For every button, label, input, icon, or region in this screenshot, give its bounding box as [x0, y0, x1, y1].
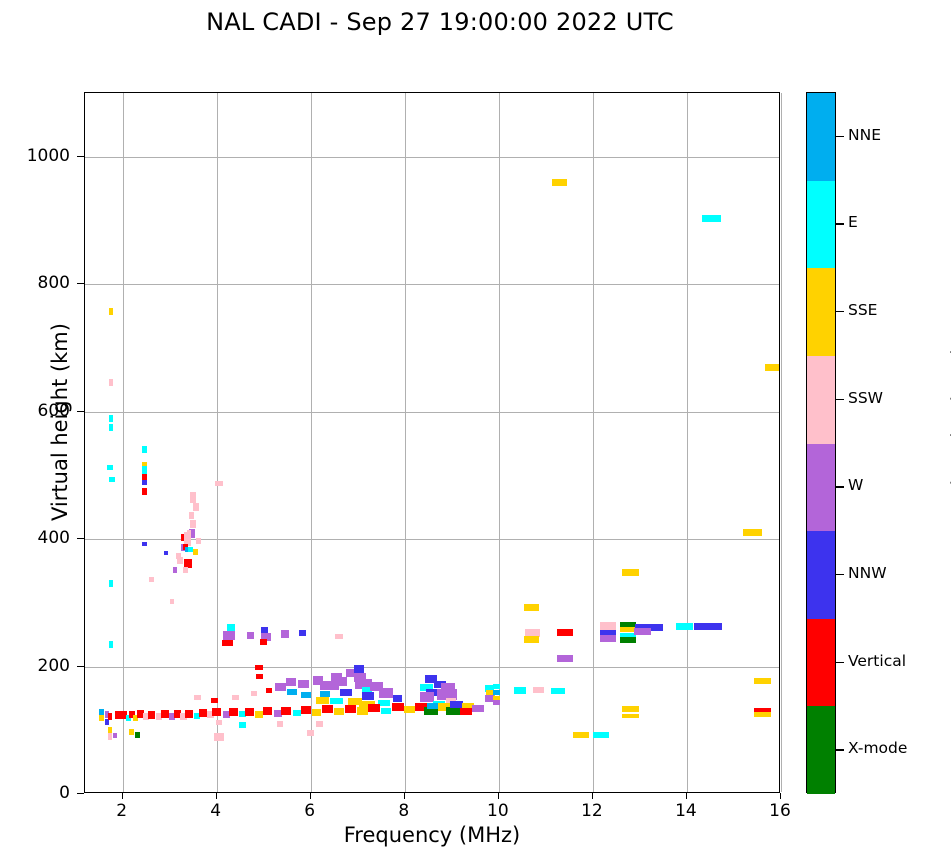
- x-axis-tick: [780, 793, 781, 799]
- echo-point: [109, 580, 113, 587]
- y-axis-tick-label: 200: [10, 656, 70, 676]
- echo-point: [301, 692, 310, 698]
- y-axis-tick: [77, 283, 84, 284]
- echo-point: [216, 720, 222, 725]
- echo-point: [177, 557, 184, 564]
- echo-point: [251, 691, 257, 696]
- echo-point: [557, 655, 573, 662]
- colorbar-segment-vertical: [807, 619, 835, 707]
- echo-point: [524, 604, 539, 611]
- x-axis-title: Frequency (MHz): [84, 823, 780, 847]
- gridline-vertical: [781, 93, 782, 792]
- echo-point: [193, 503, 198, 511]
- echo-point: [330, 698, 342, 704]
- echo-point: [312, 709, 321, 716]
- echo-point: [113, 733, 117, 738]
- echo-point: [173, 567, 177, 573]
- echo-point: [183, 567, 188, 573]
- echo-point: [460, 708, 472, 715]
- colorbar-segment-nne: [807, 93, 835, 181]
- echo-point: [109, 308, 113, 315]
- echo-point: [622, 569, 639, 576]
- echo-point: [109, 379, 113, 386]
- echo-point: [493, 700, 500, 705]
- echo-point: [107, 465, 113, 470]
- echo-point: [316, 697, 328, 704]
- y-axis-tick: [77, 793, 84, 794]
- echo-point: [357, 707, 368, 715]
- echo-point: [193, 549, 198, 555]
- x-axis-tick-label: 8: [374, 801, 434, 821]
- colorbar-segment-nnw: [807, 531, 835, 619]
- colorbar-tick: [836, 311, 844, 312]
- echo-point: [222, 640, 232, 646]
- echo-point: [189, 512, 194, 519]
- echo-point: [694, 623, 721, 630]
- y-axis-title: Virtual height (km): [48, 222, 72, 622]
- echo-point: [260, 639, 267, 645]
- echo-point: [533, 687, 544, 693]
- echo-point: [754, 678, 771, 684]
- y-axis-tick: [77, 156, 84, 157]
- colorbar-segment-ssw: [807, 356, 835, 444]
- x-axis-tick: [498, 793, 499, 799]
- colorbar-label-sse: SSE: [848, 301, 877, 319]
- echo-point: [256, 674, 263, 679]
- y-axis-tick: [77, 411, 84, 412]
- colorbar-label-ssw: SSW: [848, 389, 883, 407]
- echo-point: [676, 623, 693, 630]
- echo-point: [404, 706, 415, 713]
- echo-point: [142, 542, 147, 546]
- echo-point: [108, 713, 112, 720]
- echo-point: [214, 733, 223, 741]
- x-axis-tick-label: 4: [186, 801, 246, 821]
- colorbar-segment-sse: [807, 268, 835, 356]
- echo-point: [170, 599, 174, 604]
- echo-point: [281, 630, 289, 638]
- echo-point: [109, 424, 113, 431]
- echo-point: [600, 635, 616, 642]
- echo-point: [232, 695, 239, 700]
- echo-point: [185, 710, 193, 718]
- echo-point: [381, 708, 391, 714]
- echo-point: [266, 688, 272, 693]
- echo-point: [335, 634, 343, 639]
- echo-point: [109, 477, 115, 482]
- colorbar-label-w: W: [848, 476, 863, 494]
- echo-point: [622, 714, 639, 718]
- plot-area: [84, 92, 780, 793]
- echo-point: [142, 488, 147, 495]
- y-axis-tick: [77, 538, 84, 539]
- echo-point: [593, 732, 609, 738]
- x-axis-tick-label: 10: [468, 801, 528, 821]
- echo-point: [379, 688, 393, 698]
- echo-point: [765, 364, 779, 371]
- echo-point: [552, 179, 567, 186]
- echo-point: [164, 551, 169, 555]
- page-title: NAL CADI - Sep 27 19:00:00 2022 UTC: [0, 8, 880, 36]
- colorbar-label-vertical: Vertical: [848, 652, 906, 670]
- colorbar-tick: [836, 399, 844, 400]
- echo-point: [493, 690, 500, 695]
- x-axis-tick: [310, 793, 311, 799]
- echo-point: [313, 676, 323, 685]
- echo-point: [322, 705, 333, 713]
- echo-point: [142, 466, 147, 474]
- echo-point: [393, 695, 401, 702]
- echo-point: [392, 703, 404, 711]
- echo-point: [557, 629, 573, 636]
- echo-point: [441, 683, 455, 691]
- echo-point: [524, 636, 539, 643]
- echo-point: [105, 719, 109, 725]
- x-axis-tick-label: 2: [92, 801, 152, 821]
- colorbar-label-nnw: NNW: [848, 564, 887, 582]
- echo-point: [215, 481, 223, 486]
- colorbar-segment-x-mode: [807, 706, 835, 794]
- echo-point: [247, 632, 254, 639]
- echo-point: [362, 692, 374, 700]
- y-axis-tick-label: 0: [10, 783, 70, 803]
- echo-point: [287, 689, 296, 695]
- echo-point: [199, 709, 207, 717]
- echo-point: [293, 710, 301, 716]
- echo-point: [551, 688, 565, 694]
- x-axis-tick-label: 12: [562, 801, 622, 821]
- x-axis-tick: [592, 793, 593, 799]
- echo-point: [190, 520, 196, 528]
- echo-point: [450, 701, 462, 708]
- echo-point: [149, 577, 154, 582]
- echo-point: [194, 695, 201, 700]
- echo-point: [255, 665, 262, 670]
- echo-point: [286, 678, 296, 686]
- echo-point: [307, 730, 314, 736]
- echo-point: [298, 680, 309, 688]
- echo-point: [622, 706, 639, 712]
- echo-point: [345, 705, 356, 713]
- y-axis-tick-label: 1000: [10, 146, 70, 166]
- colorbar-tick: [836, 749, 844, 750]
- colorbar-tick: [836, 574, 844, 575]
- echo-point: [620, 637, 636, 643]
- echo-point: [334, 708, 344, 715]
- echo-point: [573, 732, 589, 738]
- echo-point: [743, 529, 762, 536]
- x-axis-tick-label: 16: [750, 801, 810, 821]
- echo-point: [135, 732, 140, 738]
- echo-point: [142, 446, 147, 453]
- echo-point: [211, 698, 218, 703]
- echo-point: [301, 706, 311, 714]
- echo-point: [275, 683, 286, 691]
- echo-point: [472, 705, 484, 712]
- echo-point: [514, 687, 525, 694]
- echo-point: [227, 624, 235, 631]
- echo-point: [142, 480, 147, 485]
- colorbar-tick: [836, 136, 844, 137]
- echo-point: [109, 415, 113, 422]
- x-axis-tick: [122, 793, 123, 799]
- x-axis-tick: [404, 793, 405, 799]
- y-axis-tick: [77, 666, 84, 667]
- echo-point: [634, 628, 651, 635]
- x-axis-tick-label: 14: [656, 801, 716, 821]
- echo-point: [212, 708, 221, 716]
- echo-point: [239, 722, 245, 728]
- colorbar-tick: [836, 662, 844, 663]
- echo-point: [148, 711, 155, 719]
- echo-point: [99, 715, 103, 721]
- echo-point: [190, 492, 196, 503]
- echo-point: [229, 708, 238, 716]
- scatter-data-layer: [85, 93, 779, 792]
- echo-point: [299, 630, 307, 636]
- echo-point: [320, 691, 330, 697]
- echo-point: [263, 707, 273, 715]
- echo-point: [368, 704, 380, 712]
- echo-point: [754, 712, 771, 717]
- colorbar-segment-w: [807, 444, 835, 532]
- colorbar-label-e: E: [848, 213, 858, 231]
- echo-point: [196, 538, 201, 544]
- x-axis-tick: [216, 793, 217, 799]
- echo-point: [245, 708, 254, 716]
- echo-point: [340, 689, 352, 696]
- x-axis-tick-label: 6: [280, 801, 340, 821]
- echo-point: [702, 215, 721, 222]
- colorbar-tick: [836, 223, 844, 224]
- colorbar-label-nne: NNE: [848, 126, 881, 144]
- colorbar-label-x-mode: X-mode: [848, 739, 907, 757]
- echo-point: [277, 721, 283, 727]
- colorbar-segment-e: [807, 181, 835, 269]
- colorbar-tick: [836, 486, 844, 487]
- x-axis-tick: [686, 793, 687, 799]
- echo-point: [161, 710, 169, 718]
- echo-point: [281, 707, 291, 715]
- echo-point: [109, 641, 113, 648]
- echo-point: [129, 729, 134, 735]
- colorbar: [806, 92, 836, 793]
- echo-point: [316, 721, 323, 727]
